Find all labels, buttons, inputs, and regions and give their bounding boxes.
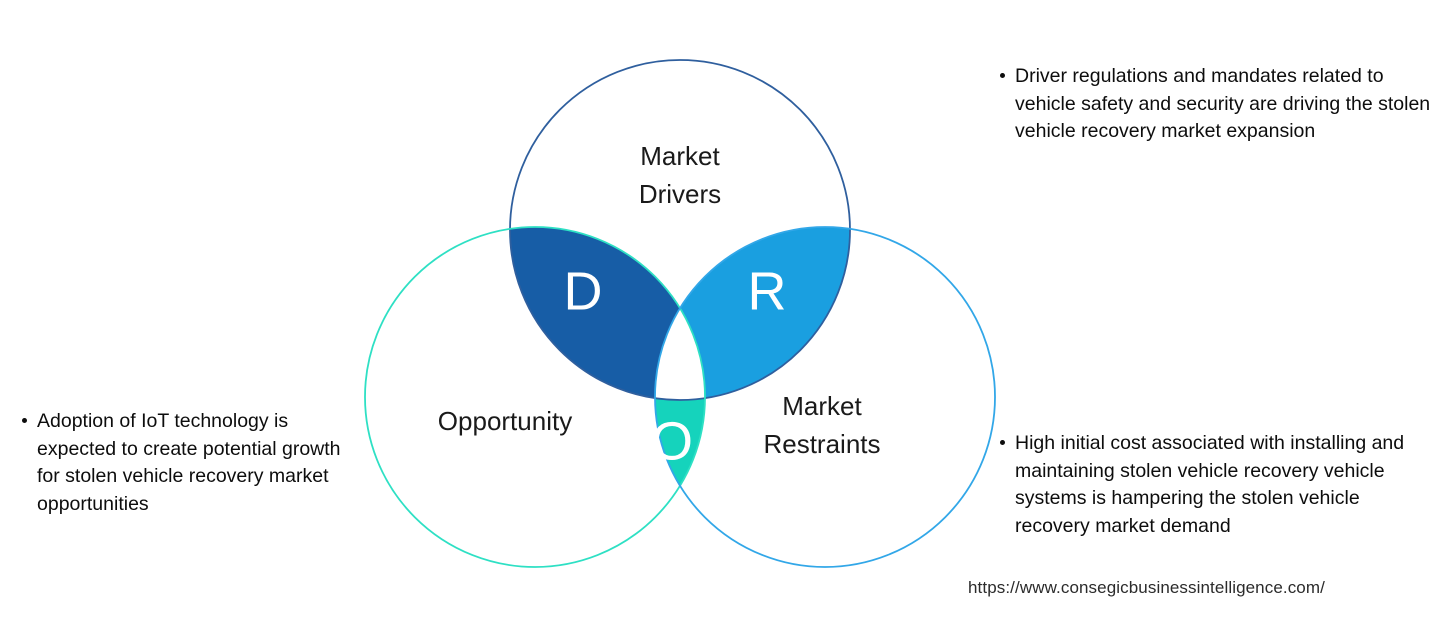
venn-diagram: Market Drivers Opportunity Market Restra… [375,45,975,585]
venn-svg: Market Drivers Opportunity Market Restra… [375,45,975,585]
bullet-icon [22,418,27,423]
venn-label-restraints-line2: Restraints [763,429,880,459]
venn-label-restraints-line1: Market [782,391,862,421]
callout-opportunity: Adoption of IoT technology is expected t… [22,408,367,519]
venn-label-drivers-line2: Drivers [639,179,721,209]
venn-lens-letter-o: O [651,411,693,471]
callout-market-restraints: High initial cost associated with instal… [1000,430,1420,541]
callout-market-drivers-text: Driver regulations and mandates related … [1015,63,1432,146]
venn-label-opportunity: Opportunity [438,406,572,436]
callout-market-drivers: Driver regulations and mandates related … [1000,63,1432,146]
venn-lens-letter-d: D [564,261,603,321]
callout-market-restraints-text: High initial cost associated with instal… [1015,430,1420,541]
venn-label-drivers-line1: Market [640,141,720,171]
venn-lens-letter-r: R [748,261,787,321]
callout-opportunity-text: Adoption of IoT technology is expected t… [37,408,367,519]
bullet-icon [1000,73,1005,78]
bullet-icon [1000,440,1005,445]
source-url[interactable]: https://www.consegicbusinessintelligence… [968,578,1325,598]
